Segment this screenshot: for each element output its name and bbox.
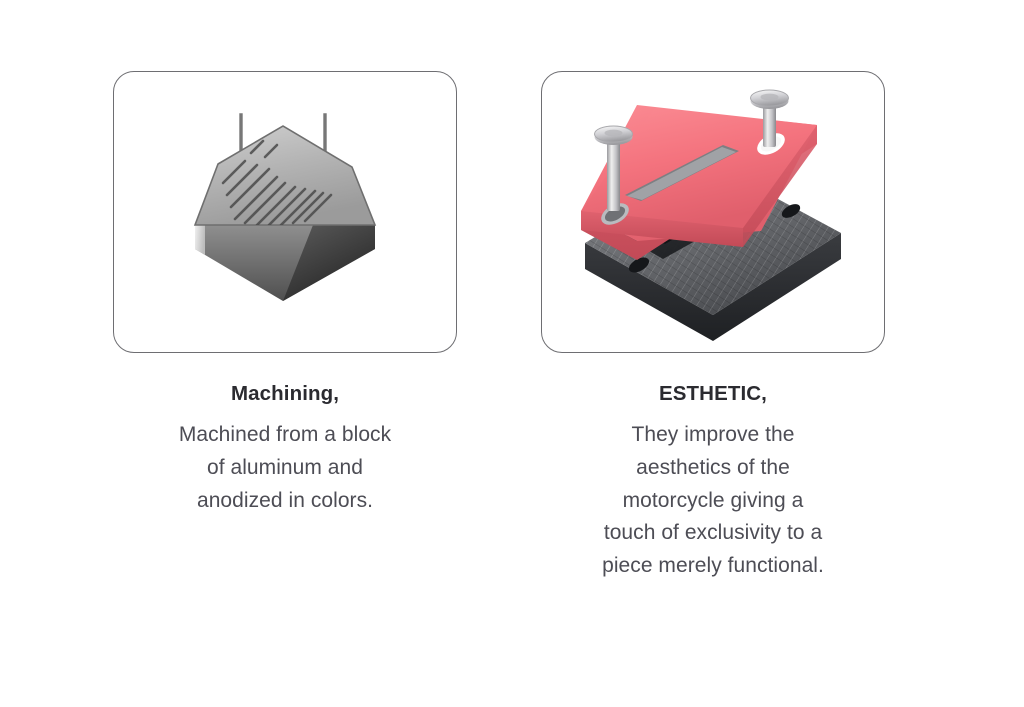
description-line: piece merely functional. bbox=[498, 550, 928, 583]
feature-grid: Machining, Machined from a block of alum… bbox=[0, 0, 1024, 707]
feature-description: They improve the aesthetics of the motor… bbox=[498, 419, 928, 583]
cnc-milling-machine-icon bbox=[114, 72, 456, 352]
feature-icon-card-machining bbox=[113, 71, 457, 353]
feature-title: ESTHETIC, bbox=[498, 382, 928, 406]
description-line: They improve the bbox=[498, 419, 928, 452]
anodized-bracket-icon bbox=[542, 72, 884, 352]
description-line: motorcycle giving a bbox=[498, 485, 928, 518]
feature-column-esthetic: ESTHETIC, They improve the aesthetics of… bbox=[498, 0, 928, 707]
description-line: anodized in colors. bbox=[70, 485, 500, 518]
description-line: Machined from a block bbox=[70, 419, 500, 452]
feature-title: Machining, bbox=[70, 382, 500, 406]
description-line: touch of exclusivity to a bbox=[498, 517, 928, 550]
description-line: of aluminum and bbox=[70, 452, 500, 485]
feature-column-machining: Machining, Machined from a block of alum… bbox=[70, 0, 500, 707]
description-line: aesthetics of the bbox=[498, 452, 928, 485]
feature-icon-card-esthetic bbox=[541, 71, 885, 353]
feature-text-machining: Machining, Machined from a block of alum… bbox=[70, 382, 500, 517]
feature-description: Machined from a block of aluminum and an… bbox=[70, 419, 500, 517]
feature-text-esthetic: ESTHETIC, They improve the aesthetics of… bbox=[498, 382, 928, 583]
